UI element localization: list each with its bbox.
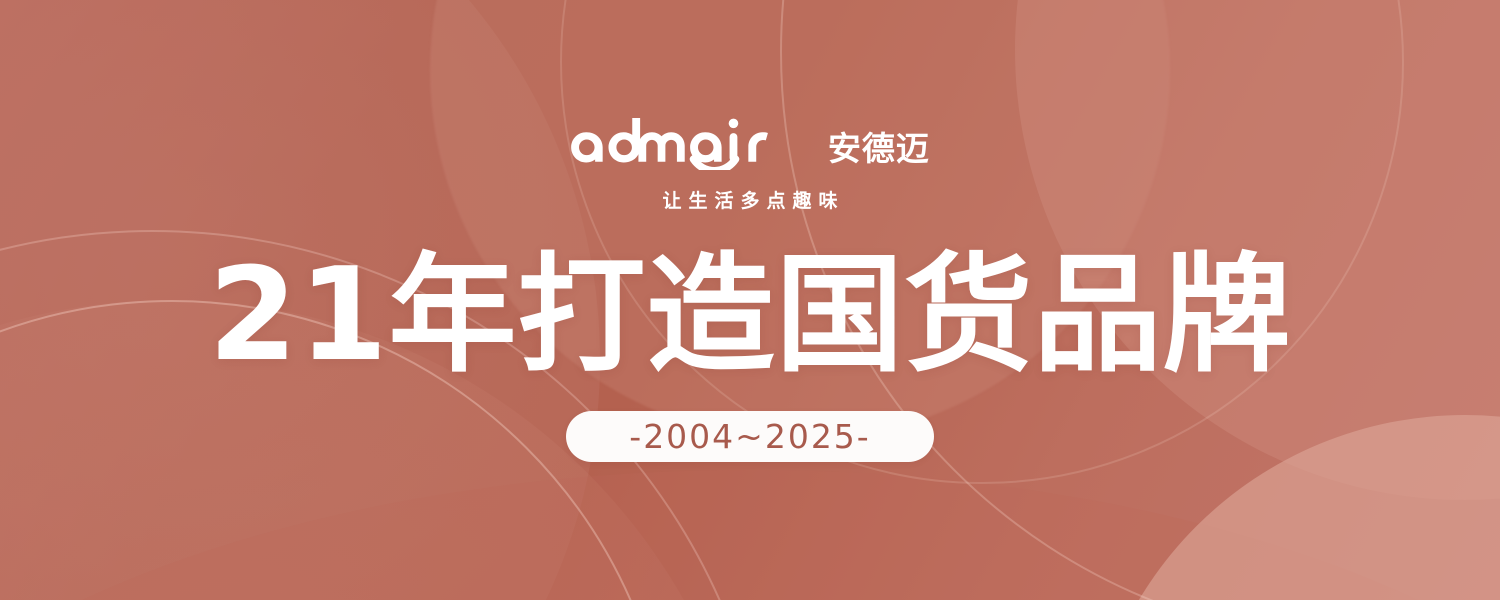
headline-title: 21年打造国货品牌 [0,249,1500,383]
year-range-badge-row: -2004~2025- [0,411,1500,462]
admair-wordmark-icon [570,118,814,170]
brand-name-chinese: 安德迈 [828,132,930,165]
promo-banner: 安德迈 让生活多点趣味 21年打造国货品牌 -2004~2025- [0,0,1500,600]
admair-wordmark [570,118,814,170]
brand-tagline: 让生活多点趣味 [0,186,1500,213]
year-range-badge: -2004~2025- [566,411,934,462]
banner-content: 安德迈 让生活多点趣味 21年打造国货品牌 -2004~2025- [0,0,1500,600]
brand-logo-lockup: 安德迈 [0,106,1500,170]
